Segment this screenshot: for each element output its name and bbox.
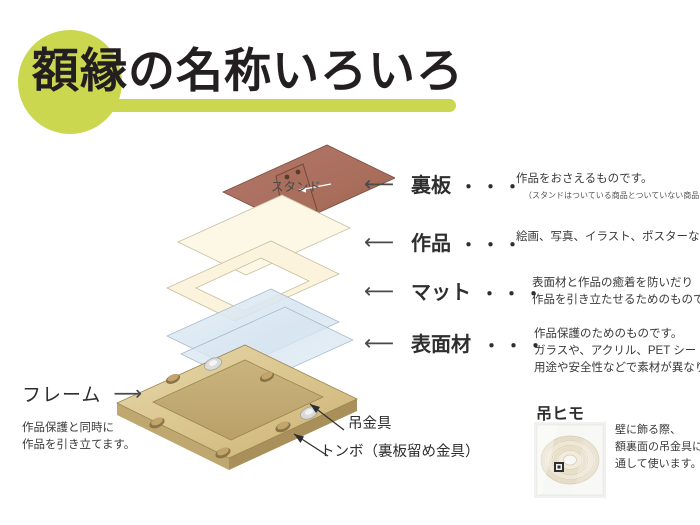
left-arrow-icon: ⟵	[364, 333, 394, 354]
slide-canvas: 額縁の名称いろいろ	[0, 0, 700, 525]
cord-desc-line-2: 額裏面の吊金具に	[615, 439, 700, 456]
callout-surface-material: ⟵ 表面材 ・・・ 作品保護のためのものです。 ガラスや、アクリル、PET シー…	[364, 325, 700, 383]
callout-term: フレーム	[22, 380, 101, 407]
stand-label: スタンド	[271, 176, 321, 195]
left-arrow-icon: ⟵	[364, 174, 394, 195]
label-hanging-hardware: 吊金具	[348, 412, 392, 433]
callout-desc-line-2: ガラスや、アクリル、PET シートなど	[534, 344, 700, 360]
callout-term: 作品	[411, 227, 451, 256]
callout-back-board: ⟵ 裏板 ・・・ 作品をおさえるものです。 （スタンドはついている商品とついてい…	[364, 166, 700, 211]
hanging-cord-section: 吊ヒモ	[512, 400, 698, 510]
cord-title: 吊ヒモ	[536, 400, 584, 424]
label-turn-button: トンボ（裏板留め金具）	[320, 440, 480, 461]
left-arrow-icon: ⟵	[364, 232, 394, 253]
callout-desc-line-1: 作品保護と同時に	[22, 420, 143, 437]
cord-desc-line-1: 壁に飾る際、	[615, 422, 700, 439]
callout-desc-line-2: 作品を引き立たせるためのものです。	[532, 293, 700, 309]
callout-term: マット	[411, 276, 471, 305]
callout-desc-line-2: 作品を引き立てます。	[22, 437, 143, 454]
callout-desc-line-1: 表面材と作品の癒着を防いだり	[532, 276, 693, 292]
cord-photo	[534, 422, 606, 498]
callout-desc-line-1: 作品をおさえるものです。	[516, 172, 653, 188]
right-arrow-icon: ⟶	[113, 381, 143, 406]
callout-mat: ⟵ マット ・・・ 表面材と作品の癒着を防いだり 作品を引き立たせるためのもので…	[364, 273, 700, 315]
callout-desc-line-1: 絵画、写真、イラスト、ポスターなど	[516, 230, 700, 246]
callout-frame: フレーム ⟶ 作品保護と同時に 作品を引き立てます。	[22, 380, 143, 454]
callout-desc-line-3: 用途や安全性などで素材が異なります。	[534, 361, 700, 377]
callout-term: 裏板	[411, 169, 451, 198]
cord-desc-line-3: 通して使います。	[615, 456, 700, 473]
callout-artwork: ⟵ 作品 ・・・ 絵画、写真、イラスト、ポスターなど	[364, 224, 700, 254]
callout-note: （スタンドはついている商品とついていない商品があります。）	[524, 190, 700, 201]
left-arrow-icon: ⟵	[364, 281, 394, 302]
callout-desc-line-1: 作品保護のためのものです。	[534, 327, 682, 343]
page-title: 額縁の名称いろいろ	[32, 41, 464, 101]
callout-term: 表面材	[411, 328, 471, 357]
